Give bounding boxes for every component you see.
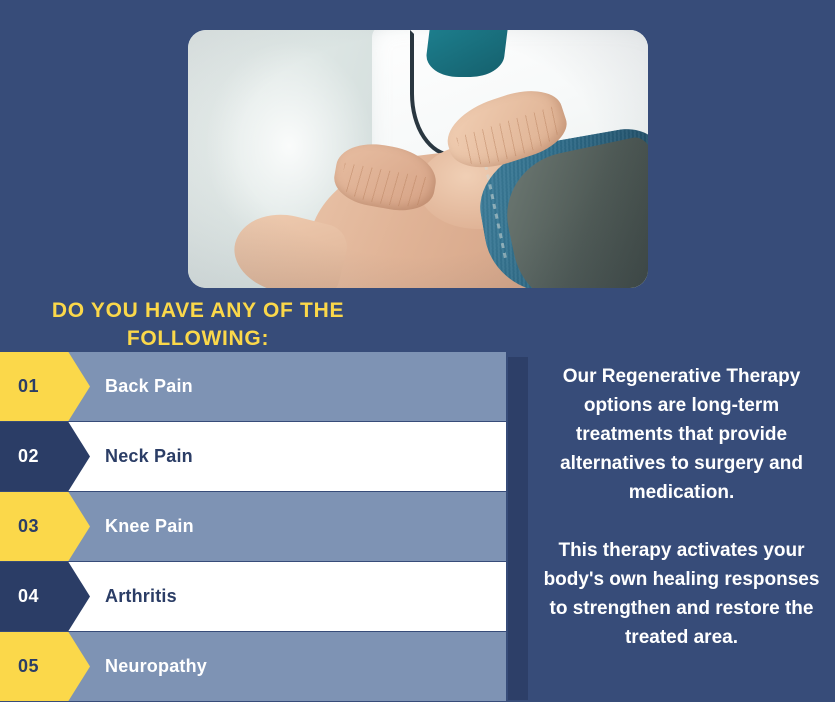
info-panel: Our Regenerative Therapy options are lon… — [528, 357, 835, 700]
checklist-item-label: Knee Pain — [105, 516, 194, 537]
checklist-row[interactable]: 05Neuropathy — [0, 632, 506, 701]
section-heading: Do you have any of the following: — [30, 297, 366, 353]
checklist-item-label: Neuropathy — [105, 656, 207, 677]
checklist-row[interactable]: 03Knee Pain — [0, 492, 506, 561]
checklist-number-badge: 03 — [0, 492, 90, 561]
checklist-row[interactable]: 02Neck Pain — [0, 422, 506, 491]
panel-accent-strip — [508, 357, 528, 700]
checklist-row[interactable]: 01Back Pain — [0, 352, 506, 421]
info-paragraph-1: Our Regenerative Therapy options are lon… — [540, 362, 823, 507]
checklist-number-badge: 02 — [0, 422, 90, 491]
checklist-number-badge: 05 — [0, 632, 90, 701]
checklist-number-badge: 04 — [0, 562, 90, 631]
checklist-row[interactable]: 04Arthritis — [0, 562, 506, 631]
hero-image — [188, 30, 648, 288]
clinic-photo — [188, 30, 648, 288]
checklist-item-label: Neck Pain — [105, 446, 193, 467]
info-paragraph-2: This therapy activates your body's own h… — [540, 536, 823, 652]
photo-vignette — [188, 30, 648, 288]
symptom-checklist: 01Back Pain02Neck Pain03Knee Pain04Arthr… — [0, 352, 506, 702]
checklist-item-label: Arthritis — [105, 586, 177, 607]
checklist-number-badge: 01 — [0, 352, 90, 421]
checklist-item-label: Back Pain — [105, 376, 193, 397]
